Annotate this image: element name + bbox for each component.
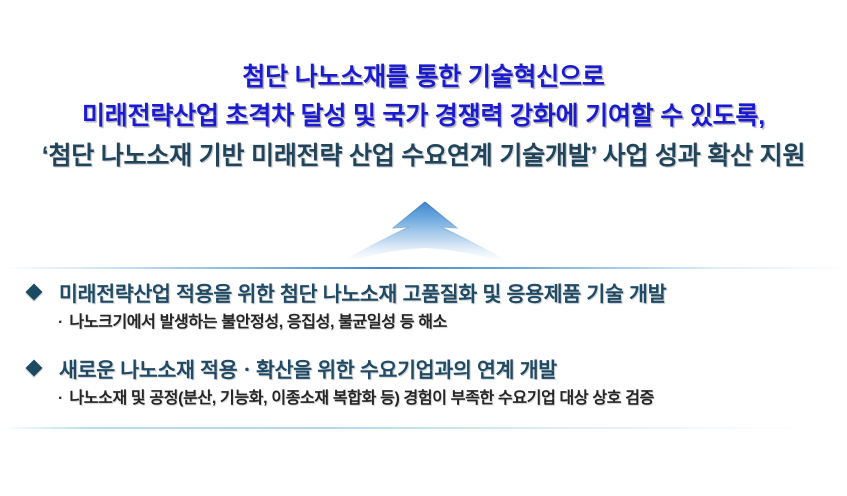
sub-bullet-item-1-1-label: 나노크기에서 발생하는 불안정성, 응집성, 불균일성 등 해소 (69, 308, 447, 332)
divider-bottom (8, 427, 839, 429)
bullet-item-1-label: 미래전략산업 적용을 위한 첨단 나노소재 고품질화 및 응용제품 기술 개발 (59, 277, 666, 307)
slide-title-block: 첨단 나노소재를 통한 기술혁신으로 미래전략산업 초격차 달성 및 국가 경쟁… (0, 58, 847, 176)
title-line-3: ‘첨단 나노소재 기반 미래전략 산업 수요연계 기술개발’ 사업 성과 확산 … (0, 136, 847, 176)
sub-bullet-item-2-1: · 나노소재 및 공정(분산, 기능화, 이종소재 복합화 등) 경험이 부족한… (0, 384, 847, 412)
dot-bullet-icon: · (58, 315, 63, 331)
sub-bullet-item-1-1: · 나노크기에서 발생하는 불안정성, 응집성, 불균일성 등 해소 (0, 308, 847, 336)
divider-top (8, 267, 839, 269)
bullet-item-1: 미래전략산업 적용을 위한 첨단 나노소재 고품질화 및 응용제품 기술 개발 (0, 276, 847, 308)
slide-canvas: 첨단 나노소재를 통한 기술혁신으로 미래전략산업 초격차 달성 및 국가 경쟁… (0, 0, 847, 496)
up-arrow-graphic (333, 198, 517, 268)
bullet-list: 미래전략산업 적용을 위한 첨단 나노소재 고품질화 및 응용제품 기술 개발 … (0, 276, 847, 414)
bullet-item-2: 새로운 나노소재 적용ㆍ확산을 위한 수요기업과의 연계 개발 (0, 352, 847, 384)
bullet-group-spacer (0, 338, 847, 352)
title-line-2: 미래전략산업 초격차 달성 및 국가 경쟁력 강화에 기여할 수 있도록, (0, 96, 847, 136)
sub-bullet-item-2-1-label: 나노소재 및 공정(분산, 기능화, 이종소재 복합화 등) 경험이 부족한 수… (69, 384, 654, 408)
title-line-1: 첨단 나노소재를 통한 기술혁신으로 (0, 58, 847, 96)
up-arrow-icon (333, 198, 517, 268)
bullet-group-2: 새로운 나노소재 적용ㆍ확산을 위한 수요기업과의 연계 개발 · 나노소재 및… (0, 352, 847, 412)
diamond-bullet-icon (26, 360, 43, 377)
bullet-group-1: 미래전략산업 적용을 위한 첨단 나노소재 고품질화 및 응용제품 기술 개발 … (0, 276, 847, 336)
diamond-bullet-icon (26, 284, 43, 301)
bullet-item-2-label: 새로운 나노소재 적용ㆍ확산을 위한 수요기업과의 연계 개발 (59, 353, 557, 383)
dot-bullet-icon: · (58, 391, 63, 407)
